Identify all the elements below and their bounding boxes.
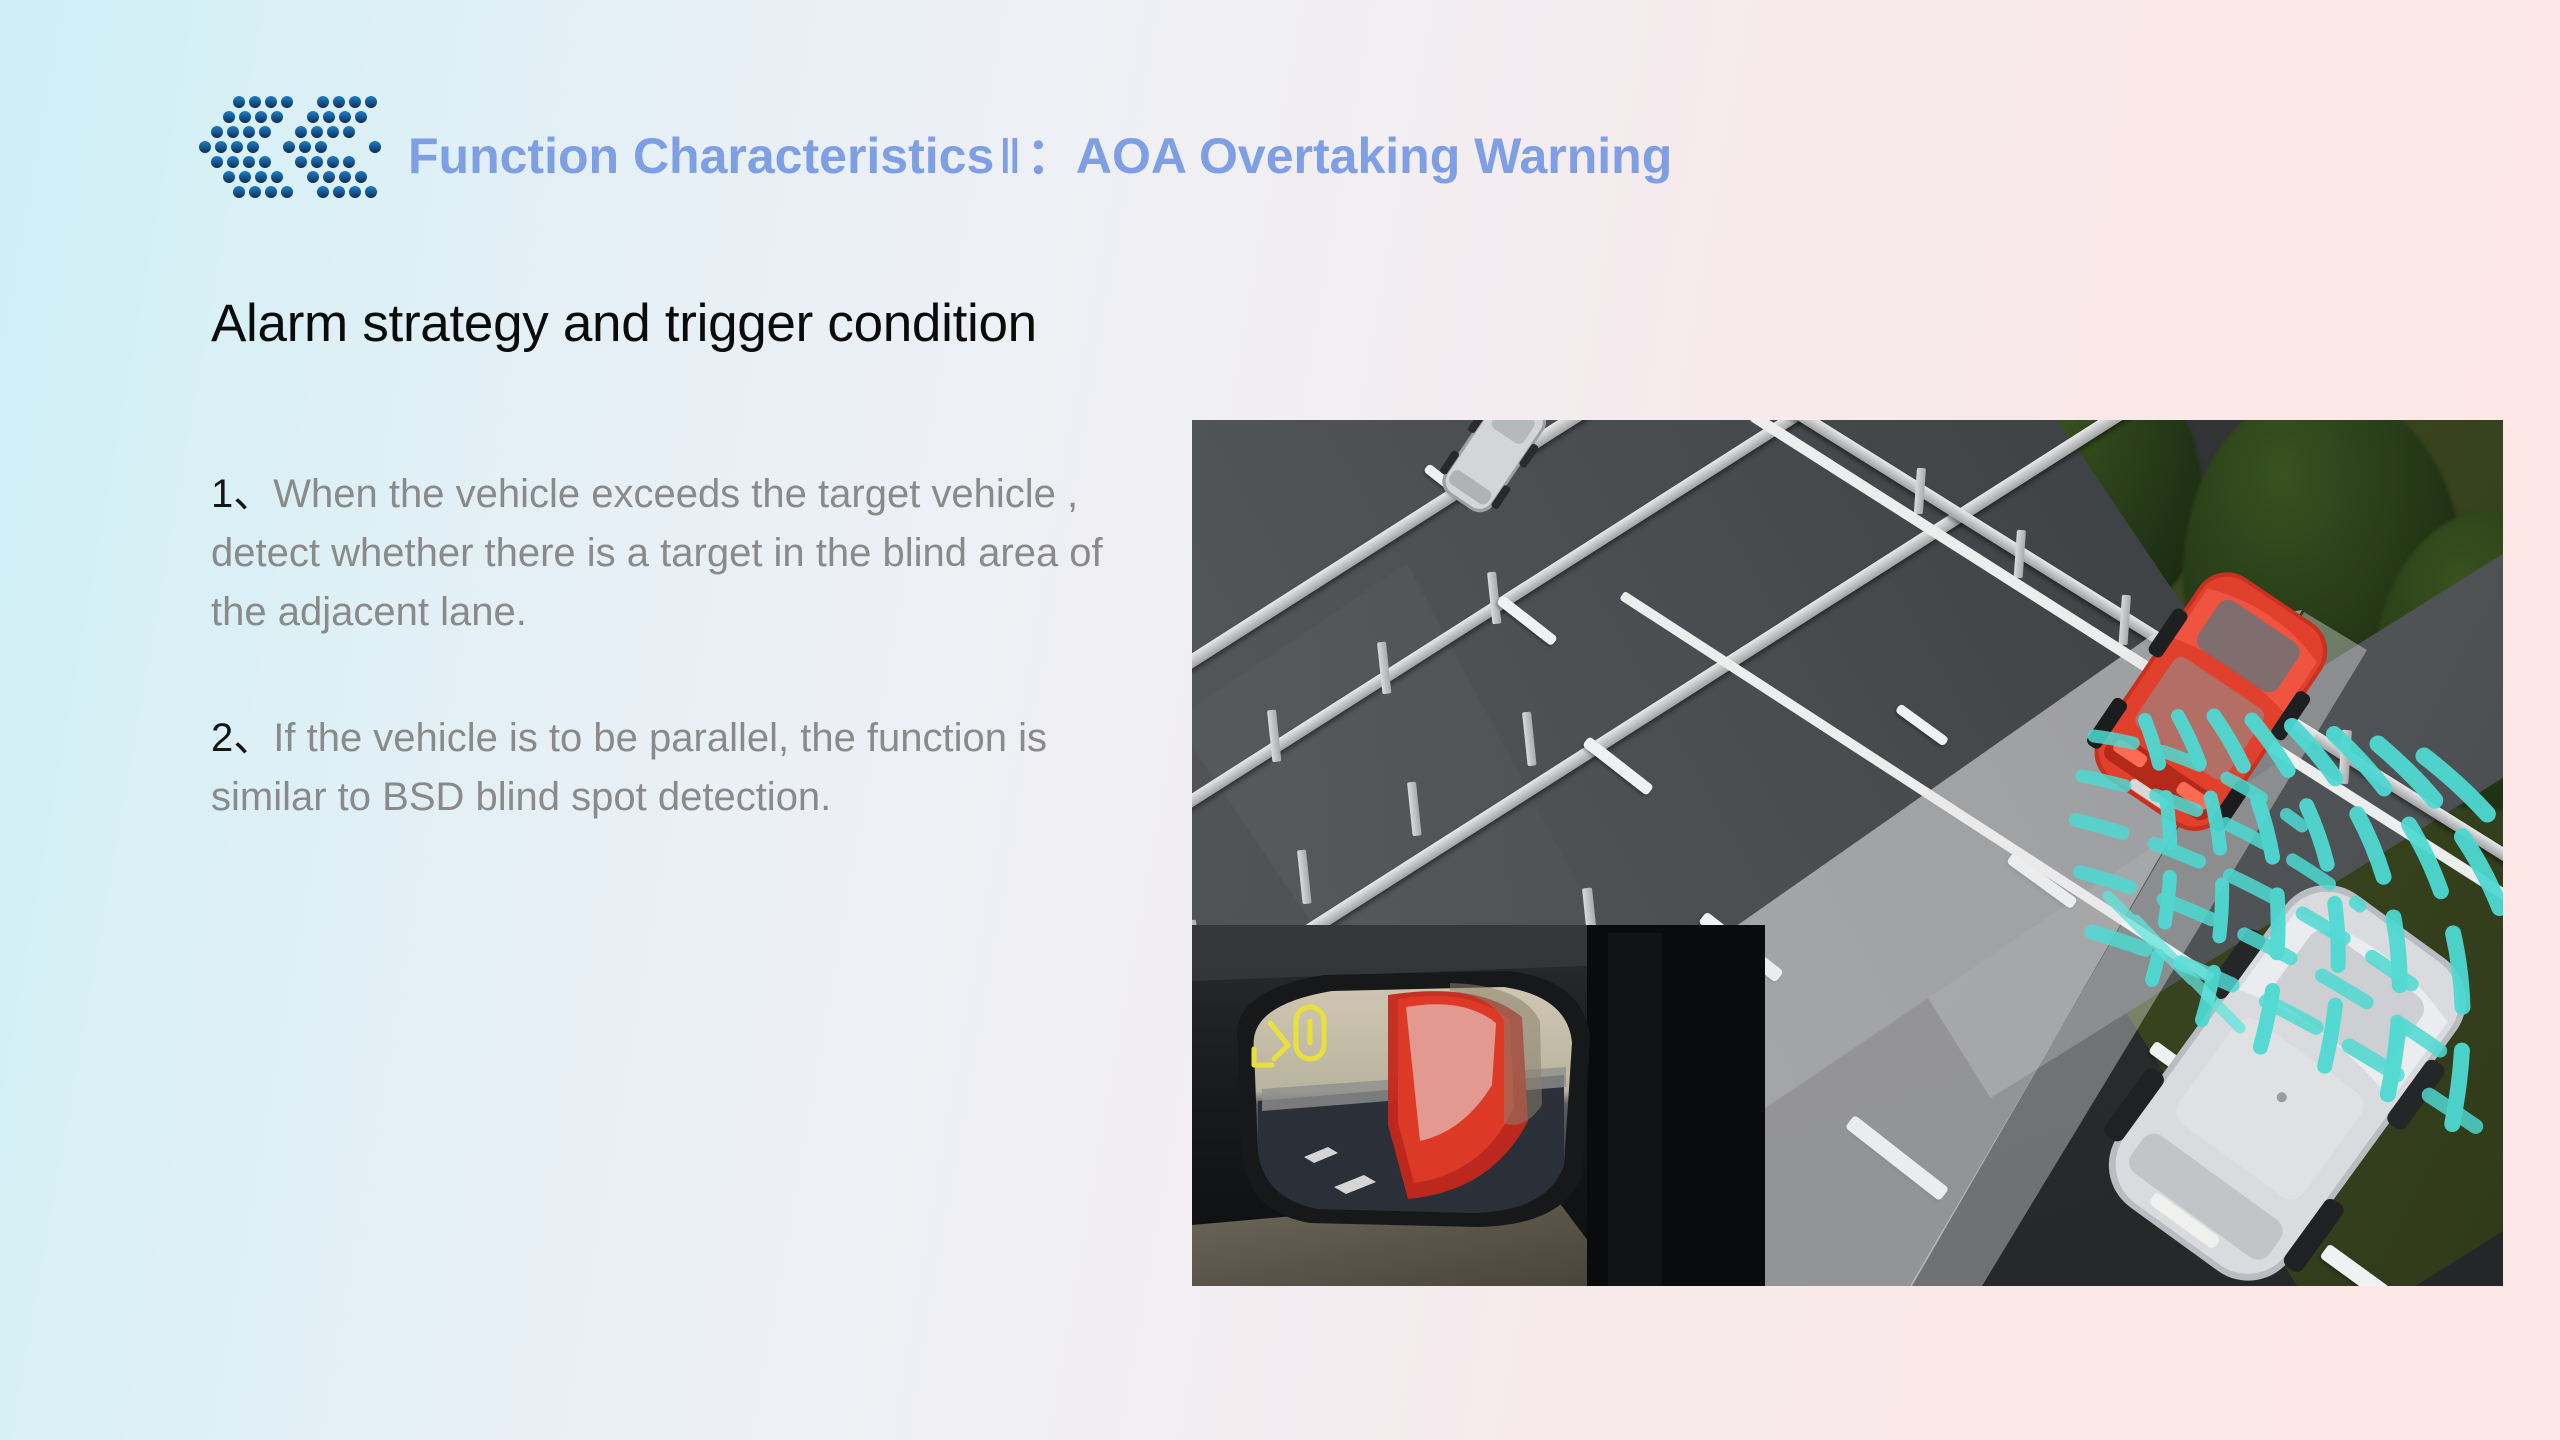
page-title-suffix: AOA Overtaking Warning: [1076, 128, 1672, 184]
page-title: Function CharacteristicsⅡ：AOA Overtaking…: [408, 131, 1672, 182]
side-mirror-bsd-indicator-inset: [1192, 925, 1765, 1286]
slide-header: Function CharacteristicsⅡ：AOA Overtaking…: [185, 88, 1672, 208]
body-paragraph-1-number: 1、: [211, 472, 273, 516]
body-paragraph-2-text: If the vehicle is to be parallel, the fu…: [211, 716, 1047, 819]
company-dot-matrix-logo: [185, 88, 390, 208]
body-text-column: 1、When the vehicle exceeds the target ve…: [211, 465, 1151, 827]
body-paragraph-2-number: 2、: [211, 716, 273, 760]
body-paragraph-2: 2、If the vehicle is to be parallel, the …: [211, 709, 1151, 827]
aoa-overtaking-warning-illustration: [1192, 420, 2503, 1286]
section-headline: Alarm strategy and trigger condition: [211, 293, 1037, 354]
body-paragraph-1-text: When the vehicle exceeds the target vehi…: [211, 472, 1103, 634]
page-title-numeral: Ⅱ: [994, 131, 1026, 184]
body-paragraph-1: 1、When the vehicle exceeds the target ve…: [211, 465, 1151, 643]
page-title-prefix: Function Characteristics: [408, 128, 994, 184]
page-title-separator: ：: [1026, 128, 1076, 184]
